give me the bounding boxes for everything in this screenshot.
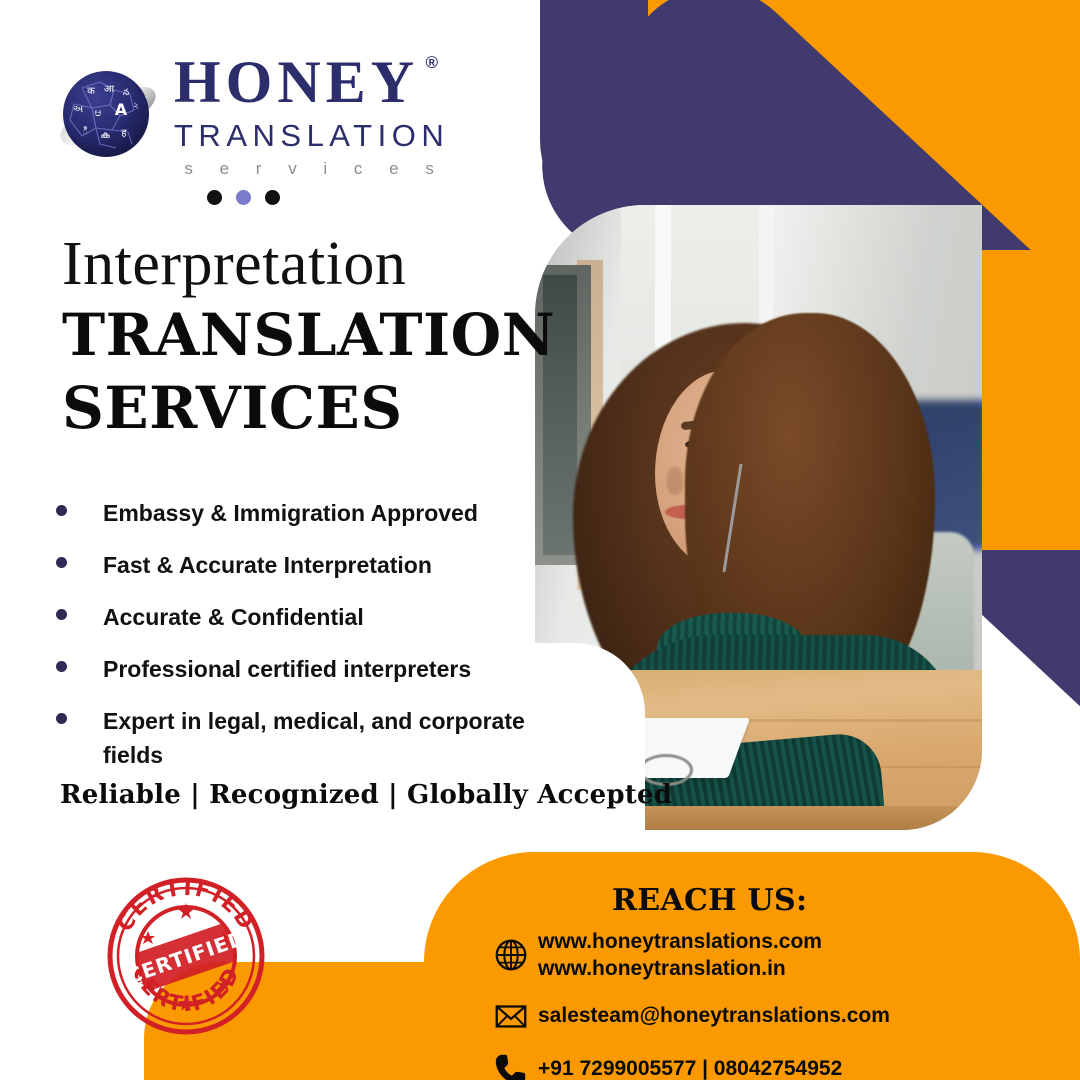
svg-text:న: న: [123, 88, 129, 98]
logo-honey-text: HONEY: [174, 49, 419, 115]
website-line-1: www.honeytranslations.com: [538, 930, 822, 953]
logo-wordmark-secondary: TRANSLATION: [174, 118, 449, 154]
svg-text:आ: आ: [104, 84, 115, 95]
envelope-icon: [492, 996, 538, 1036]
registered-mark-icon: ®: [426, 54, 444, 71]
list-item: Embassy & Immigration Approved: [56, 496, 526, 530]
logo-wordmark-tertiary: s e r v i c e s: [174, 159, 449, 179]
headline-bold-line-2: SERVICES: [62, 374, 555, 442]
list-item: Accurate & Confidential: [56, 600, 526, 634]
bullet-icon: [56, 713, 67, 724]
logo-wordmark-primary: HONEY ®: [174, 52, 419, 112]
list-item: Professional certified interpreters: [56, 652, 526, 686]
contact-heading: REACH US:: [612, 883, 807, 918]
svg-text:ക: ക: [100, 130, 110, 141]
dot-1: [207, 190, 222, 205]
list-item: Fast & Accurate Interpretation: [56, 548, 526, 582]
svg-text:ి: ి: [82, 126, 88, 137]
feature-text: Embassy & Immigration Approved: [103, 496, 478, 530]
svg-text:क: क: [87, 86, 95, 97]
website-line-2: www.honeytranslation.in: [538, 955, 822, 982]
feature-list: Embassy & Immigration Approved Fast & Ac…: [56, 496, 526, 790]
feature-text: Accurate & Confidential: [103, 600, 364, 634]
feature-text: Professional certified interpreters: [103, 652, 471, 686]
bullet-icon: [56, 661, 67, 672]
dot-2: [236, 190, 251, 205]
phone-icon: [492, 1049, 538, 1080]
svg-text:২: ২: [133, 101, 139, 111]
brand-logo[interactable]: क आ న અ ಆ A ২ ి ക ह HONEY ® TRANSLATION …: [52, 52, 472, 182]
multilingual-globe-icon: क आ న અ ಆ A ২ ి ക ह: [52, 60, 164, 172]
svg-text:A: A: [115, 100, 128, 119]
email-text: salesteam@honeytranslations.com: [538, 1002, 890, 1029]
bullet-icon: [56, 609, 67, 620]
globe-icon: [492, 935, 538, 975]
feature-text: Expert in legal, medical, and corporate …: [103, 704, 526, 772]
website-text: www.honeytranslations.com www.honeytrans…: [538, 928, 822, 983]
phone-text: +91 7299005577 | 08042754952: [538, 1055, 842, 1080]
bullet-icon: [56, 557, 67, 568]
certified-stamp-icon: CERTIFIED CERTIFIED CERTIFIED: [103, 873, 269, 1039]
headline-bold-line-1: TRANSLATION: [62, 301, 555, 369]
svg-text:અ: અ: [73, 104, 84, 115]
svg-text:ह: ह: [121, 128, 127, 139]
dot-3: [265, 190, 280, 205]
tagline: Reliable | Recognized | Globally Accepte…: [60, 780, 672, 810]
headline-script-line: Interpretation: [62, 232, 555, 297]
bullet-icon: [56, 505, 67, 516]
contact-list: www.honeytranslations.com www.honeytrans…: [492, 928, 1052, 1080]
contact-row-website[interactable]: www.honeytranslations.com www.honeytrans…: [492, 928, 1052, 983]
feature-text: Fast & Accurate Interpretation: [103, 548, 432, 582]
contact-row-phone[interactable]: +91 7299005577 | 08042754952: [492, 1049, 1052, 1080]
list-item: Expert in legal, medical, and corporate …: [56, 704, 526, 772]
page-title: Interpretation TRANSLATION SERVICES: [62, 232, 555, 442]
decorative-dots: [207, 190, 280, 205]
contact-row-email[interactable]: salesteam@honeytranslations.com: [492, 996, 1052, 1036]
svg-text:ಆ: ಆ: [94, 106, 101, 119]
poster-canvas: क आ న અ ಆ A ২ ి ക ह HONEY ® TRANSLATION …: [0, 0, 1080, 1080]
